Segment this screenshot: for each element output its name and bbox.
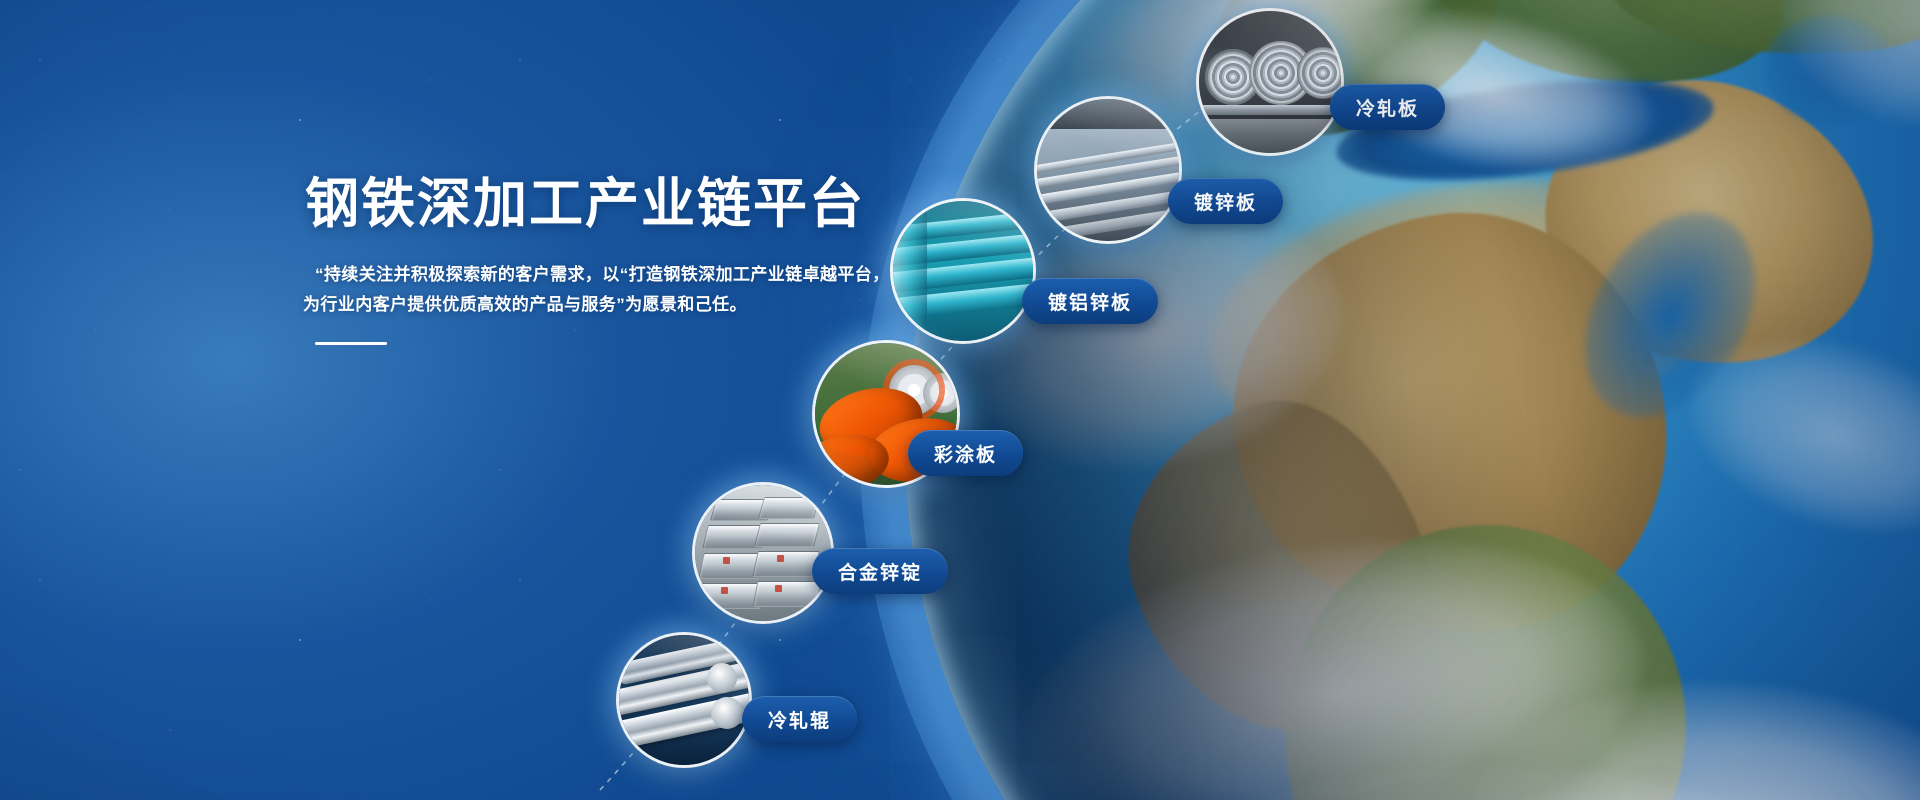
vignette-overlay (0, 0, 1920, 800)
hero-banner: 钢铁深加工产业链平台 “持续关注并积极探索新的客户需求，以“打造钢铁深加工产业链… (0, 0, 1920, 800)
